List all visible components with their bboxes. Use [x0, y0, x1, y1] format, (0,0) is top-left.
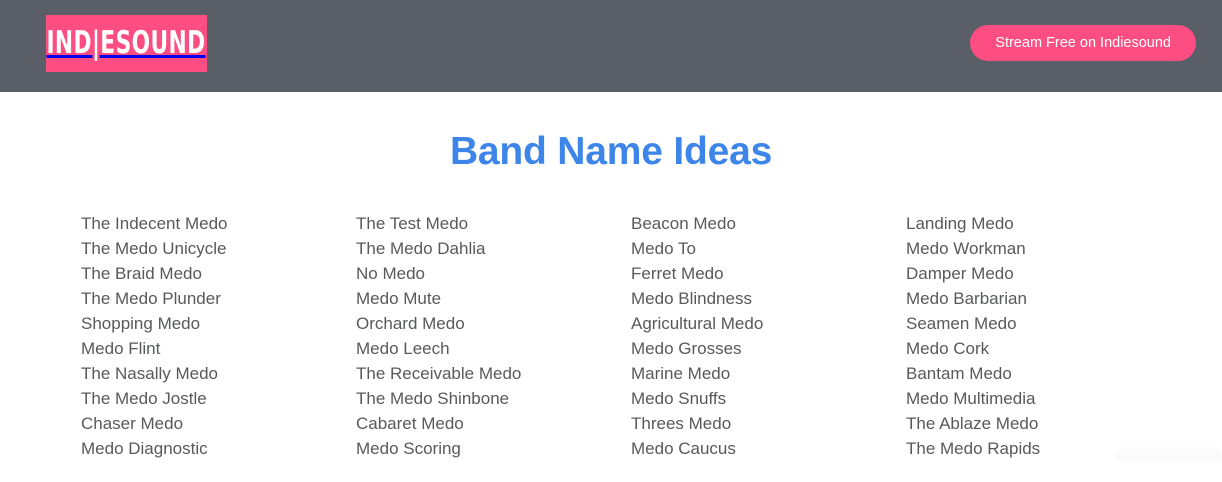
main-content: Band Name Ideas The Indecent MedoThe Med…: [0, 92, 1222, 461]
band-name-item: Medo Leech: [356, 336, 631, 361]
stream-free-button[interactable]: Stream Free on Indiesound: [970, 25, 1196, 61]
band-name-item: No Medo: [356, 261, 631, 286]
band-name-item: Medo Snuffs: [631, 386, 906, 411]
band-name-item: Seamen Medo: [906, 311, 1181, 336]
band-name-item: The Test Medo: [356, 211, 631, 236]
chat-widget-peek[interactable]: [1115, 447, 1222, 461]
band-name-item: Threes Medo: [631, 411, 906, 436]
band-name-item: Medo Flint: [81, 336, 356, 361]
band-name-item: The Ablaze Medo: [906, 411, 1181, 436]
band-name-item: Chaser Medo: [81, 411, 356, 436]
band-name-item: Medo Workman: [906, 236, 1181, 261]
band-name-item: Bantam Medo: [906, 361, 1181, 386]
band-name-item: The Receivable Medo: [356, 361, 631, 386]
band-name-column-3: Beacon MedoMedo ToFerret MedoMedo Blindn…: [631, 211, 906, 461]
band-name-item: The Medo Unicycle: [81, 236, 356, 261]
band-name-item: Medo To: [631, 236, 906, 261]
band-name-column-4: Landing MedoMedo WorkmanDamper MedoMedo …: [906, 211, 1181, 461]
band-name-item: The Medo Jostle: [81, 386, 356, 411]
band-name-item: Landing Medo: [906, 211, 1181, 236]
band-name-item: Medo Cork: [906, 336, 1181, 361]
band-name-item: Shopping Medo: [81, 311, 356, 336]
band-name-item: Marine Medo: [631, 361, 906, 386]
band-name-column-2: The Test MedoThe Medo DahliaNo MedoMedo …: [356, 211, 631, 461]
band-name-item: The Medo Plunder: [81, 286, 356, 311]
band-name-item: The Medo Dahlia: [356, 236, 631, 261]
band-name-item: Medo Diagnostic: [81, 436, 356, 461]
band-name-item: Agricultural Medo: [631, 311, 906, 336]
band-name-item: Ferret Medo: [631, 261, 906, 286]
band-name-item: Beacon Medo: [631, 211, 906, 236]
site-logo[interactable]: IND|ESOUND: [46, 15, 207, 72]
band-name-item: Damper Medo: [906, 261, 1181, 286]
band-name-item: Medo Blindness: [631, 286, 906, 311]
band-name-item: The Nasally Medo: [81, 361, 356, 386]
band-name-item: Medo Scoring: [356, 436, 631, 461]
site-header: IND|ESOUND Stream Free on Indiesound: [0, 0, 1222, 92]
site-logo-text: IND|ESOUND: [47, 28, 206, 59]
band-name-item: The Braid Medo: [81, 261, 356, 286]
band-name-item: The Indecent Medo: [81, 211, 356, 236]
band-name-item: Orchard Medo: [356, 311, 631, 336]
page-title: Band Name Ideas: [0, 92, 1222, 176]
band-name-item: The Medo Shinbone: [356, 386, 631, 411]
band-name-grid: The Indecent MedoThe Medo UnicycleThe Br…: [0, 211, 1222, 461]
band-name-item: Medo Barbarian: [906, 286, 1181, 311]
band-name-item: Medo Caucus: [631, 436, 906, 461]
band-name-item: Medo Multimedia: [906, 386, 1181, 411]
band-name-item: Medo Grosses: [631, 336, 906, 361]
band-name-item: Medo Mute: [356, 286, 631, 311]
band-name-item: Cabaret Medo: [356, 411, 631, 436]
band-name-column-1: The Indecent MedoThe Medo UnicycleThe Br…: [81, 211, 356, 461]
